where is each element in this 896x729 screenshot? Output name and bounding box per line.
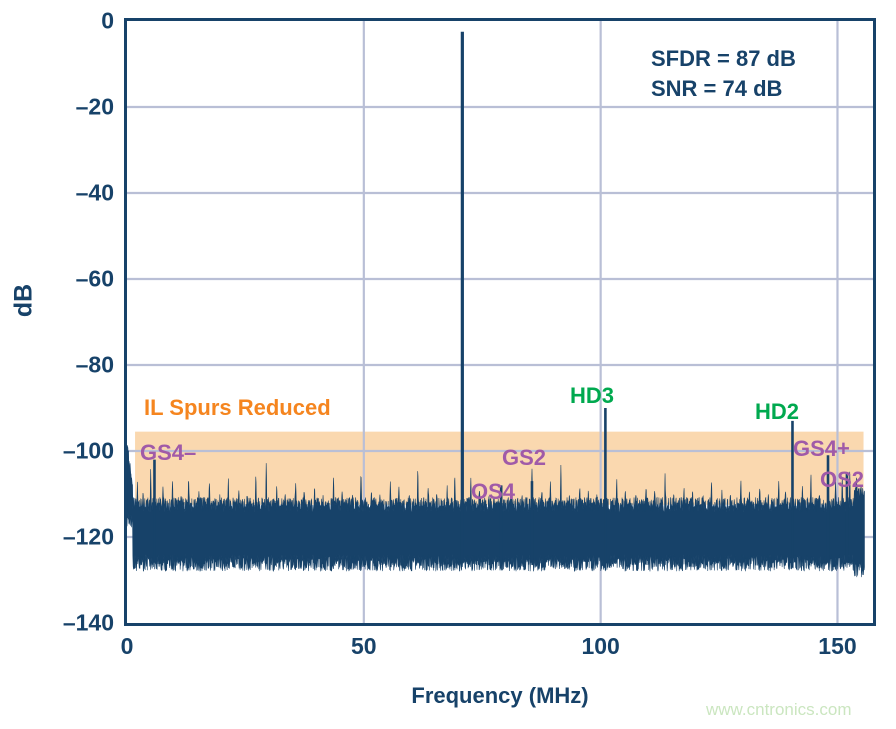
y-tick-label: –140: [28, 610, 114, 637]
y-tick-label: –80: [28, 352, 114, 379]
spectrum-plot-figure: dB 0 –20 –40 –60 –80 –100 –120 –140 0 50…: [0, 0, 896, 729]
y-tick-label: –20: [28, 94, 114, 121]
watermark-text: www.cntronics.com: [706, 700, 851, 720]
y-tick-label: –60: [28, 266, 114, 293]
x-tick-label: 150: [818, 633, 856, 660]
y-tick-label: –100: [28, 438, 114, 465]
x-tick-label: 0: [121, 633, 134, 660]
plot-area: SFDR = 87 dB SNR = 74 dB IL Spurs Reduce…: [124, 18, 876, 626]
y-tick-label: –120: [28, 524, 114, 551]
x-tick-label: 50: [351, 633, 377, 660]
x-tick-label: 100: [581, 633, 619, 660]
y-axis-tick-labels: 0 –20 –40 –60 –80 –100 –120 –140: [28, 0, 114, 729]
y-tick-label: 0: [28, 8, 114, 35]
spectrum-trace-svg: [127, 21, 873, 623]
y-tick-label: –40: [28, 180, 114, 207]
